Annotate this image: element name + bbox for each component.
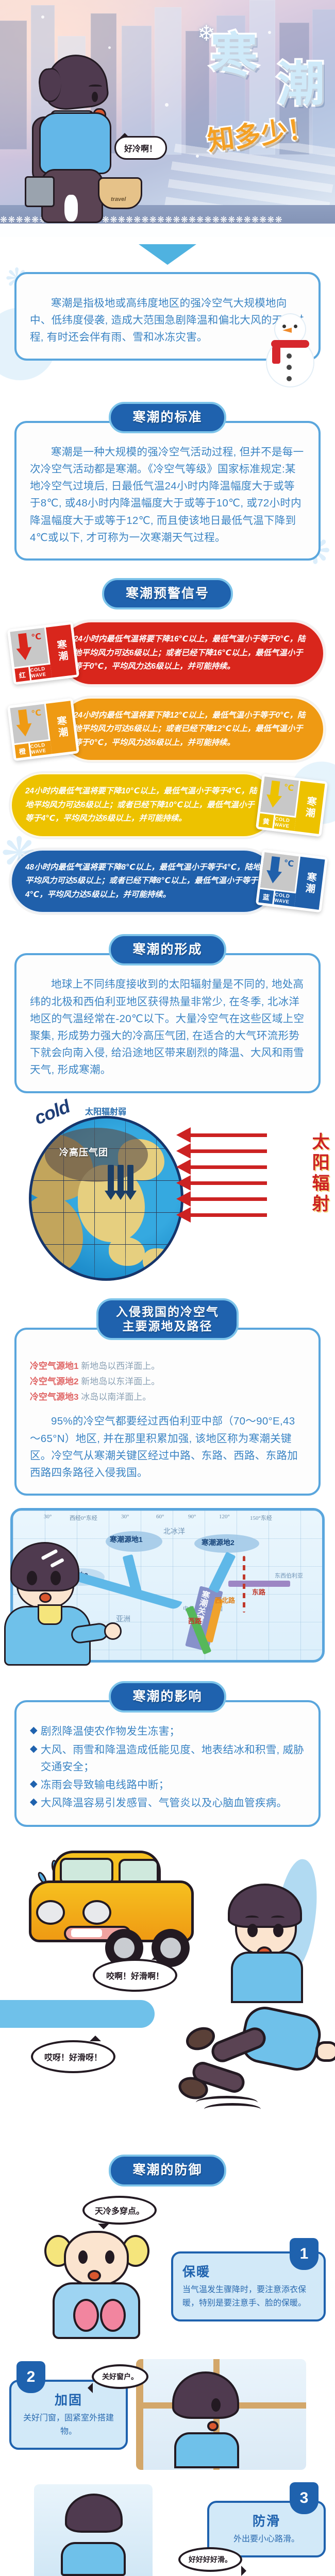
warning-title: 寒潮预警信号: [102, 578, 233, 609]
eye: [211, 2398, 221, 2412]
cold-air-origin-list: 冷空气源地1 新地岛以西洋面上。 冷空气源地2 新地岛以东洋面上。 冷空气源地3…: [30, 1359, 305, 1404]
impact-item-text: 大风降温容易引发感冒、气管炎以及心脑血管疾病。: [41, 1794, 287, 1811]
warning-text-red: 24小时内最低气温将要下降16℃以上，最低气温小于等于0℃，陆地平均风力可达6级…: [59, 621, 325, 685]
route-arrow-east: [228, 1581, 290, 1587]
formation-text: 地球上不同纬度接收到的太阳辐射量是不同的, 地处高纬的北极和西伯利亚地区获得热量…: [30, 976, 305, 1078]
origin-row: 冷空气源地2 新地岛以东洋面上。: [30, 1374, 305, 1389]
map-source-label-1: 寒潮源地1: [110, 1534, 143, 1545]
origin-key: 冷空气源地2: [30, 1377, 78, 1386]
map-lon-label: 30°: [44, 1514, 52, 1520]
map-lon-label: 120°: [219, 1514, 230, 1520]
mitten: [100, 2299, 126, 2332]
impact-item-text: 冻雨会导致输电线路中断；: [41, 1776, 170, 1793]
snow-dot: [165, 103, 169, 107]
landmass: [109, 1237, 145, 1266]
sign-english-label: COLD WAVE: [274, 815, 296, 831]
origin-key: 冷空气源地1: [30, 1361, 78, 1371]
impact-item: ◆ 大风降温容易引发感冒、气管炎以及心脑血管疾病。: [30, 1794, 305, 1811]
formation-title: 寒潮的形成: [109, 934, 226, 965]
warning-signal-row-orange: ℃ 寒潮 橙 COLD WAVE 24小时内最低气温将要下降12℃以上，最低气温…: [10, 697, 325, 761]
warning-signal-row-red: ℃ 寒潮 红 COLD WAVE 24小时内最低气温将要下降16℃以上，最低气温…: [10, 621, 325, 685]
sign-word: 寒潮: [303, 795, 316, 819]
slippery-road-scene: [34, 2484, 153, 2576]
warning-section-header: 寒潮预警信号: [0, 578, 335, 609]
startled-boy-illustration: [207, 1874, 326, 2003]
tip-text: 当气温发生骤降时，要注意添衣保暖，特别是要注意手、脸的保暖。: [182, 2283, 314, 2310]
tip-2-speech-bubble: 关好窗户。: [92, 2364, 148, 2389]
sign-word: 寒潮: [55, 715, 68, 739]
weak-solar-radiation-label: 太阳辐射弱: [85, 1105, 126, 1117]
infographic-page: ❋❋❋❋❋❋❋❋❋❋❋❋❋❋❋❋❋❋❋❋❋❋❋❋❋❋❋❋❋❋❋❋❋❋❋❋ tra…: [0, 0, 335, 2576]
route-label-northwest: 西北路: [215, 1595, 235, 1605]
map-lon-label: 30°: [121, 1514, 129, 1520]
boy-closing-window-illustration: [168, 2371, 245, 2464]
eye: [27, 1571, 37, 1585]
map-lon-label: 90°: [188, 1514, 196, 1520]
mouth: [88, 2270, 101, 2281]
tip-text: 关好门窗，固紧室外搭建物。: [21, 2412, 116, 2438]
boy-presenter-illustration: [3, 1542, 101, 1666]
building-shape: [0, 21, 27, 149]
eye: [51, 1571, 61, 1585]
sign-english-label: COLD WAVE: [274, 891, 296, 907]
map-region-label: 北冰洋: [163, 1526, 185, 1536]
tip-number-badge: 1: [290, 2238, 319, 2270]
solar-radiation-arrows-icon: [190, 1121, 267, 1229]
sign-word: 寒潮: [303, 872, 316, 895]
sign-word-cell: 寒潮: [294, 857, 325, 910]
sign-arrow-cell: ℃: [260, 776, 300, 818]
building-shape: [186, 31, 209, 154]
standard-text: 寒潮是一种大规模的强冷空气活动过程, 但并不是每一次冷空气活动都是寒潮。《冷空气…: [30, 444, 305, 546]
landmass: [143, 1248, 176, 1275]
warning-text-blue: 48小时内最低气温将要下降8℃以上，最低气温小于等于4℃，陆地平均风力可达5级以…: [10, 849, 276, 913]
hair: [228, 1884, 302, 1928]
cold-label: cold: [31, 1095, 73, 1129]
snowman-button: [287, 376, 292, 381]
source-title-line2: 主要源地及路径: [116, 1319, 219, 1334]
source-section-header: 入侵我国的冷空气 主要源地及路径: [0, 1298, 335, 1341]
window-scene: [136, 2359, 306, 2470]
map-lon-label: 150°东经: [250, 1514, 272, 1522]
snow-ground: [0, 224, 335, 237]
travel-bag: travel: [98, 177, 142, 209]
slip-speech-bubble: 哎呀！好滑呀！: [31, 2040, 115, 2073]
cartoon-car-illustration: [29, 1851, 199, 1954]
hero-speech-bubble: 好冷啊！: [114, 136, 167, 160]
tip-card-2: 2 加固 关好门窗，固紧室外搭建物。: [9, 2380, 128, 2450]
car-scene-speech-text: 咬啊！好滑啊！: [106, 1972, 164, 1981]
origin-value: 新地岛以西洋面上。: [81, 1361, 160, 1371]
defense-intro-bubble: 天冷多穿点。: [82, 2196, 157, 2225]
defense-section-header: 寒潮的防御: [0, 2155, 335, 2186]
title-char-2: 潮: [277, 61, 325, 108]
tip-number-badge: 2: [16, 2361, 45, 2393]
sign-level-label: 橙: [14, 743, 31, 758]
hair: [43, 52, 110, 112]
tip-card-1: 1 保暖 当气温发生骤降时，要注意添衣保暖，特别是要注意手、脸的保暖。: [171, 2251, 326, 2321]
car-slip-scene: 咬啊！好滑啊！: [0, 1830, 335, 2000]
sign-word: 寒潮: [55, 639, 68, 663]
diamond-bullet-icon: ◆: [30, 1776, 38, 1792]
travel-bag-label: travel: [111, 196, 126, 202]
sign-arrow-cell: ℃: [260, 853, 300, 894]
impact-item-text: 剧烈降温使农作物发生冻害；: [41, 1723, 180, 1740]
sign-arrow-cell: ℃: [10, 704, 50, 745]
defense-tip-3: 3 防滑 外出要小心路滑。 好好好好滑。: [9, 2480, 326, 2576]
earth-radiation-diagram: cold 太阳辐射弱 冷高压气团: [0, 1103, 335, 1288]
snow-dot: [108, 46, 111, 49]
diamond-bullet-icon: ◆: [30, 1794, 38, 1810]
origin-row: 冷空气源地1 新地岛以西洋面上。: [30, 1359, 305, 1374]
warning-text-orange: 24小时内最低气温将要下降12℃以上，最低气温小于等于0℃，陆地平均风力可达6级…: [59, 697, 325, 761]
sign-english-label: COLD WAVE: [30, 740, 52, 756]
bundled-kid-illustration: [44, 2233, 153, 2336]
route-label-east: 东路: [252, 1587, 265, 1597]
falling-boy-illustration: [180, 2005, 325, 2124]
degree-icon: ℃: [31, 631, 42, 642]
source-title-line1: 入侵我国的冷空气: [116, 1304, 219, 1319]
scroll-down-arrow-icon: [139, 244, 196, 265]
snow-dot: [196, 155, 199, 158]
route-label-west: 西路: [188, 1616, 202, 1625]
standard-title: 寒潮的标准: [109, 402, 226, 433]
tip-2-speech-text: 关好窗户。: [102, 2372, 138, 2381]
car-scene-speech-bubble: 咬啊！好滑啊！: [93, 1959, 177, 1992]
impact-title: 寒潮的影响: [109, 1681, 226, 1713]
defense-title: 寒潮的防御: [109, 2155, 226, 2186]
defense-intro-scene: 天冷多穿点。: [0, 2187, 335, 2228]
down-arrow-icon: [14, 633, 33, 662]
diamond-bullet-icon: ◆: [30, 1723, 38, 1739]
hero-banner: ❋❋❋❋❋❋❋❋❋❋❋❋❋❋❋❋❋❋❋❋❋❋❋❋❋❋❋❋❋❋❋❋❋❋❋❋ tra…: [0, 0, 335, 237]
motion-line: [204, 2103, 261, 2115]
warning-text-yellow: 24小时内最低气温将要下降10℃以上，最低气温小于等于4℃，陆地平均风力可达6级…: [10, 773, 276, 837]
origin-value: 新地岛以东洋面上。: [81, 1377, 160, 1386]
globe: 冷高压气团: [29, 1116, 183, 1281]
tip-art-2: 关好窗户。: [136, 2359, 306, 2470]
map-lon-label: 60°: [156, 1514, 164, 1520]
cold-wave-sign-yellow: ℃ 寒潮 黄 COLD WAVE: [256, 774, 328, 837]
source-text: 95%的冷空气都要经过西伯利亚中部（70～90°E,43～65°N）地区, 并在…: [30, 1413, 305, 1481]
down-arrow-icon: [265, 780, 283, 809]
cold-wave-sign-blue: ℃ 寒潮 蓝 COLD WAVE: [256, 850, 328, 913]
map-lon-label: 西经0°东经: [70, 1514, 97, 1522]
origin-row: 冷空气源地3 冰岛以南洋面上。: [30, 1389, 305, 1405]
map-region-label: 亚洲: [116, 1614, 130, 1624]
down-arrow-icon: [265, 856, 283, 886]
defense-tip-1: 1 保暖 当气温发生骤降时，要注意添衣保暖，特别是要注意手、脸的保暖。: [9, 2238, 326, 2349]
source-card: 冷空气源地1 新地岛以西洋面上。 冷空气源地2 新地岛以东洋面上。 冷空气源地3…: [14, 1328, 321, 1496]
mouth: [207, 2421, 219, 2431]
tip-art-1: [34, 2238, 163, 2341]
snowman-carrot-nose-icon: [282, 328, 292, 333]
tip-number-badge: 3: [290, 2482, 319, 2514]
hand: [315, 2041, 335, 2062]
eye: [92, 92, 98, 102]
mitten: [73, 2299, 99, 2332]
sign-level-label: 红: [14, 667, 31, 682]
slip-fall-scene: 哎呀！好滑呀！: [0, 2000, 335, 2155]
warning-signal-row-yellow: ℃ 寒潮 黄 COLD WAVE 24小时内最低气温将要下降10℃以上，最低气温…: [10, 773, 325, 837]
hair: [65, 2494, 123, 2533]
jacket: [174, 2432, 239, 2468]
snowman-button: [287, 353, 292, 359]
eyebrow: [89, 84, 102, 89]
eye: [105, 2250, 114, 2264]
content-body: ❋ ❋ ❋ 寒潮是指极地或高纬度地区的强冷空气大规模地向中、低纬度侵袭, 造成大…: [0, 244, 335, 2576]
snowman-illustration: [264, 314, 315, 392]
hair: [10, 1542, 79, 1591]
diamond-bullet-icon: ◆: [30, 1741, 38, 1757]
sign-english-label: COLD WAVE: [30, 665, 52, 681]
formation-card: 地球上不同纬度接收到的太阳辐射量是不同的, 地处高纬的北极和西伯利亚地区获得热量…: [14, 953, 321, 1093]
sign-arrow-cell: ℃: [10, 628, 50, 669]
intro-card: 寒潮是指极地或高纬度地区的强冷空气大规模地向中、低纬度侵袭, 造成大范围急剧降温…: [14, 272, 321, 361]
tip-3-speech-text: 好好好好滑。: [189, 2555, 232, 2564]
landmass: [29, 1196, 83, 1273]
skating-boy-illustration: [57, 2494, 134, 2576]
snowman-button: [287, 365, 292, 370]
title-char-1: 寒: [210, 32, 258, 79]
snowman-scarf: [271, 340, 309, 348]
standard-card: 寒潮是一种大规模的强冷空气活动过程, 但并不是每一次冷空气活动都是寒潮。《冷空气…: [14, 421, 321, 561]
sign-level-label: 黄: [258, 814, 275, 828]
ice-patch: [0, 2000, 155, 2028]
jacket: [61, 2542, 126, 2576]
sign-word-cell: 寒潮: [294, 781, 325, 834]
crosswalk-stripes: [164, 143, 335, 205]
jacket: [231, 1952, 303, 2003]
tip-text: 外出要小心路滑。: [219, 2533, 314, 2546]
impact-item: ◆ 大风、雨雪和降温造成低能见度、地表结冰和积雪, 威胁交通安全；: [30, 1741, 305, 1775]
boy-with-luggage-illustration: travel: [31, 55, 129, 225]
impact-item: ◆ 剧烈降温使农作物发生冻害；: [30, 1723, 305, 1740]
route-dashed-line: [243, 1556, 245, 1613]
eye: [78, 2250, 88, 2264]
hero-speech-text: 好冷啊！: [124, 145, 157, 154]
map-region-label: 东西伯利亚: [275, 1571, 303, 1580]
impact-section-header: 寒潮的影响: [0, 1681, 335, 1713]
origin-key: 冷空气源地3: [30, 1392, 78, 1402]
solar-radiation-label: 太阳辐射: [309, 1132, 328, 1215]
degree-icon: ℃: [283, 858, 295, 869]
down-arrow-icon: [14, 708, 33, 738]
building-shape: [155, 7, 181, 155]
impact-card: ◆ 剧烈降温使农作物发生冻害； ◆ 大风、雨雪和降温造成低能见度、地表结冰和积雪…: [14, 1700, 321, 1827]
tip-art-3: 好好好好滑。: [29, 2480, 199, 2576]
sign-level-label: 蓝: [258, 889, 275, 904]
snowman-eye: [294, 325, 297, 328]
cold-high-pressure-label: 冷高压气团: [59, 1145, 108, 1159]
cold-wave-sign-orange: ℃ 寒潮 橙 COLD WAVE: [7, 698, 79, 761]
origin-value: 冰岛以南洋面上。: [81, 1392, 151, 1402]
hand: [104, 1622, 122, 1640]
cold-wave-sign-red: ℃ 寒潮 红 COLD WAVE: [7, 622, 79, 685]
formation-section-header: 寒潮的形成: [0, 934, 335, 965]
cold-air-arrows-icon: [108, 1165, 133, 1195]
slip-speech-text: 哎呀！好滑呀！: [44, 2054, 102, 2062]
jacket: [39, 112, 111, 174]
source-title: 入侵我国的冷空气 主要源地及路径: [96, 1298, 239, 1341]
suitcase: [25, 176, 55, 207]
tip-3-speech-bubble: 好好好好滑。: [178, 2547, 242, 2572]
defense-tip-2: 2 加固 关好门窗，固紧室外搭建物。: [9, 2359, 326, 2470]
impact-item-text: 大风、雨雪和降温造成低能见度、地表结冰和积雪, 威胁交通安全；: [41, 1741, 305, 1775]
impact-item: ◆ 冻雨会导致输电线路中断；: [30, 1776, 305, 1793]
hair: [172, 2371, 239, 2419]
degree-icon: ℃: [283, 782, 295, 793]
warning-signal-row-blue: ℃ 寒潮 蓝 COLD WAVE 48小时内最低气温将要下降8℃以上，最低气温小…: [10, 849, 325, 913]
map-source-label-2: 寒潮源地2: [202, 1537, 234, 1548]
defense-intro-text: 天冷多穿点。: [95, 2207, 144, 2216]
degree-icon: ℃: [31, 707, 42, 719]
standard-section-header: 寒潮的标准: [0, 402, 335, 433]
snow-dot: [268, 31, 271, 34]
snow-dot: [41, 15, 44, 19]
